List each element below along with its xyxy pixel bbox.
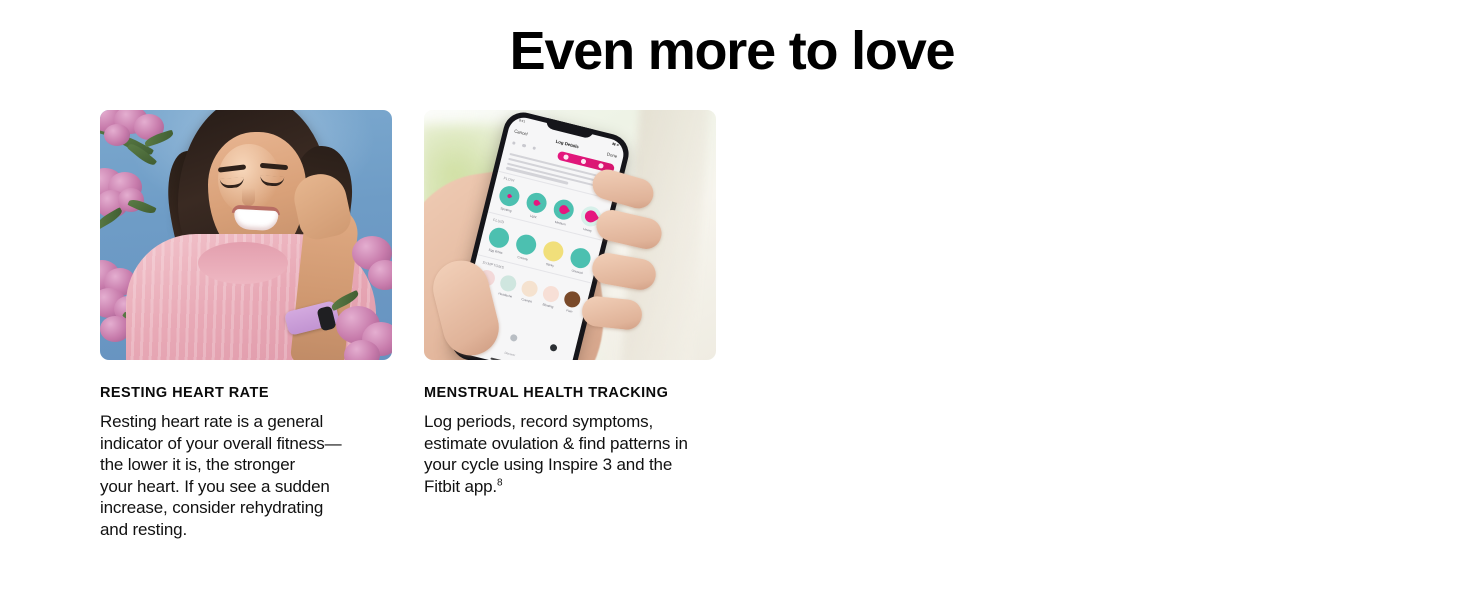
medium-flow-icon bbox=[552, 198, 576, 222]
flow-option-label: Medium bbox=[550, 218, 570, 227]
fluid-option-creamy[interactable]: Creamy bbox=[513, 232, 539, 262]
card-body-text: Log periods, record symptoms, estimate o… bbox=[424, 412, 688, 496]
flow-slider-knob[interactable] bbox=[598, 163, 604, 169]
step-dot bbox=[512, 141, 516, 145]
symptom-option-bloating[interactable]: Bloating bbox=[540, 284, 561, 309]
symptom-option-headache[interactable]: Headache bbox=[497, 274, 518, 299]
flow-option-spotting[interactable]: Spotting bbox=[496, 184, 522, 214]
step-dot bbox=[532, 146, 536, 150]
creamy-icon bbox=[514, 232, 538, 256]
flow-slider-knob[interactable] bbox=[563, 154, 569, 160]
nose bbox=[242, 188, 255, 206]
section-label-flow: FLOW bbox=[503, 176, 515, 183]
status-bar-time: 9:41 bbox=[519, 118, 526, 123]
tab-community[interactable]: Community bbox=[541, 343, 561, 360]
page-title: Even more to love bbox=[0, 18, 1464, 84]
cramps-icon bbox=[520, 279, 539, 298]
card-heading-menstrual-health-tracking: MENSTRUAL HEALTH TRACKING bbox=[424, 384, 716, 402]
section-label-fluid: FLUID bbox=[493, 218, 505, 225]
fluid-option-label: Creamy bbox=[513, 253, 533, 262]
community-icon bbox=[549, 344, 557, 352]
pain-icon bbox=[563, 290, 582, 309]
resting-heart-rate-image bbox=[100, 110, 392, 360]
symptom-option-label: Bloating bbox=[540, 301, 556, 309]
spotting-icon bbox=[497, 184, 521, 208]
symptom-option-label: Cramps bbox=[519, 296, 535, 304]
flow-option-light[interactable]: Light bbox=[523, 191, 549, 221]
menstrual-health-tracking-image: 9:41 ▮▮ ▰ Cancel Log Details Done bbox=[424, 110, 716, 360]
sweater-collar bbox=[198, 242, 288, 284]
flow-option-label: Spotting bbox=[496, 205, 516, 214]
card-body-menstrual-health-tracking: Log periods, record symptoms, estimate o… bbox=[424, 411, 716, 497]
status-bar-icons: ▮▮ ▰ bbox=[612, 141, 620, 147]
fluid-option-label: Unusual bbox=[567, 267, 587, 276]
fluid-option-unusual[interactable]: Unusual bbox=[567, 246, 593, 276]
woman-smiling-with-flowers-photo bbox=[100, 110, 392, 360]
step-dots bbox=[512, 141, 536, 150]
symptom-option-pain[interactable]: Pain bbox=[561, 290, 582, 315]
symptom-option-cramps[interactable]: Cramps bbox=[519, 279, 540, 304]
flow-option-medium[interactable]: Medium bbox=[550, 198, 576, 228]
bloating-icon bbox=[541, 284, 560, 303]
headache-icon bbox=[499, 274, 518, 293]
symptom-option-label: Headache bbox=[497, 291, 513, 299]
card-menstrual-health-tracking: 9:41 ▮▮ ▰ Cancel Log Details Done bbox=[424, 110, 716, 540]
feature-cards: RESTING HEART RATE Resting heart rate is… bbox=[100, 110, 716, 540]
footnote-marker: 8 bbox=[497, 477, 502, 488]
fluid-option-sticky[interactable]: Sticky bbox=[540, 239, 566, 269]
flow-option-label: Light bbox=[523, 212, 543, 221]
card-resting-heart-rate: RESTING HEART RATE Resting heart rate is… bbox=[100, 110, 392, 540]
card-body-resting-heart-rate: Resting heart rate is a general indicato… bbox=[100, 411, 392, 540]
sticky-icon bbox=[541, 239, 565, 263]
symptom-option-label: Pain bbox=[561, 307, 577, 315]
light-flow-icon bbox=[524, 191, 548, 215]
screen-title: Log Details bbox=[555, 139, 579, 150]
fluid-option-label: Egg White bbox=[486, 247, 506, 256]
egg-white-icon bbox=[487, 226, 511, 250]
flow-slider-knob[interactable] bbox=[581, 159, 587, 165]
fluid-option-label: Sticky bbox=[540, 260, 560, 269]
card-heading-resting-heart-rate: RESTING HEART RATE bbox=[100, 384, 392, 402]
cancel-button[interactable]: Cancel bbox=[514, 128, 528, 136]
tab-label: Discover bbox=[504, 351, 516, 358]
fluid-option-egg-white[interactable]: Egg White bbox=[486, 226, 512, 256]
blossom-icon bbox=[104, 124, 130, 146]
section-label-symptoms: SYMPTOMS bbox=[482, 261, 504, 270]
flow-option-label: Heavy bbox=[577, 225, 597, 234]
done-button[interactable]: Done bbox=[606, 152, 617, 159]
hand-holding-phone-fitbit-app-photo: 9:41 ▮▮ ▰ Cancel Log Details Done bbox=[424, 110, 716, 360]
discover-icon bbox=[510, 334, 518, 342]
step-dot bbox=[522, 144, 526, 148]
tab-discover[interactable]: Discover bbox=[503, 333, 520, 360]
unusual-icon bbox=[568, 246, 592, 270]
